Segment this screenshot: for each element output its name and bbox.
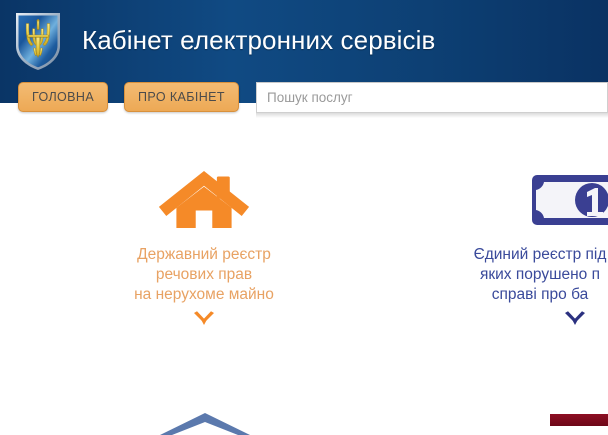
chevron-down-icon-bankruptcy[interactable] bbox=[380, 311, 608, 327]
services-grid: Державний реєстр речових прав на нерухом… bbox=[0, 103, 608, 423]
service-label-property: Державний реєстр речових прав на нерухом… bbox=[44, 245, 364, 305]
search-container bbox=[256, 82, 608, 113]
ukraine-coat-of-arms-icon bbox=[13, 10, 63, 72]
nav-button-home[interactable]: ГОЛОВНА bbox=[18, 82, 108, 112]
partial-roof-icon bbox=[160, 413, 250, 435]
page-title: Кабінет електронних сервісів bbox=[82, 23, 435, 57]
main-navigation: ГОЛОВНА ПРО КАБІНЕТ bbox=[0, 82, 608, 122]
partial-red-banner bbox=[550, 414, 608, 426]
house-icon bbox=[44, 153, 364, 245]
search-input[interactable] bbox=[256, 82, 608, 113]
banknote-icon bbox=[380, 153, 608, 245]
service-tile-bankruptcy[interactable]: Єдиний реєстр під яких порушено п справі… bbox=[380, 153, 608, 327]
search-shadow bbox=[256, 113, 608, 118]
chevron-down-icon-property[interactable] bbox=[44, 311, 364, 327]
nav-button-about[interactable]: ПРО КАБІНЕТ bbox=[124, 82, 239, 112]
service-tile-property[interactable]: Державний реєстр речових прав на нерухом… bbox=[44, 153, 364, 327]
service-label-bankruptcy: Єдиний реєстр під яких порушено п справі… bbox=[380, 245, 608, 305]
